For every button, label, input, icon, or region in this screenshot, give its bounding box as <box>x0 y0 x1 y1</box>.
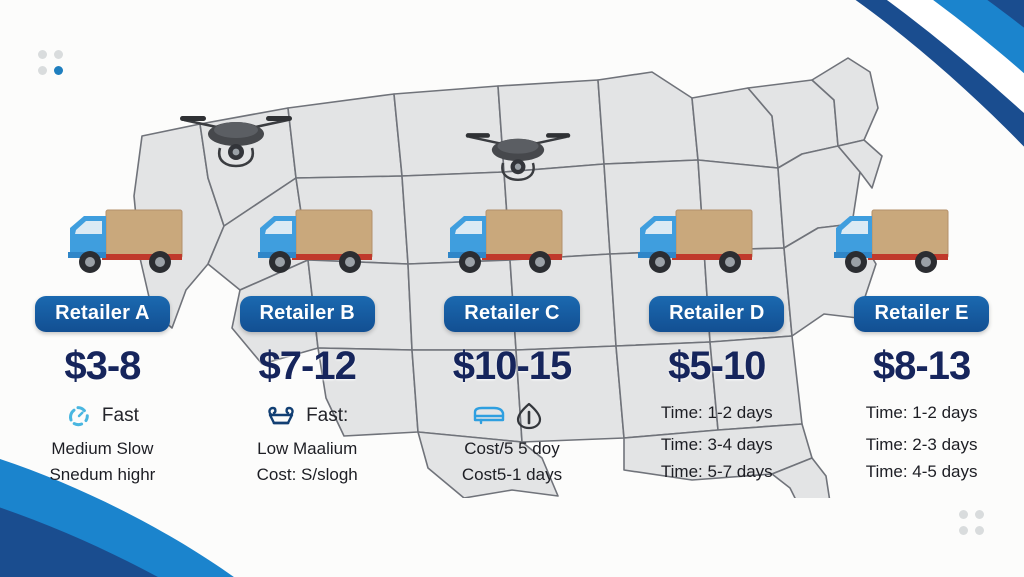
delivery-truck-4 <box>632 200 760 282</box>
retailer-column-c: Retailer C $10-15 Cost/5 5 doy <box>410 296 615 526</box>
price-a: $3-8 <box>64 346 140 386</box>
detail-lines-c: Cost/5 5 doy Cost5-1 days <box>462 436 562 489</box>
dot <box>54 50 63 59</box>
dot-accent <box>54 66 63 75</box>
dot <box>38 66 47 75</box>
delivery-drone-1 <box>176 96 296 170</box>
icon-row-d: Time: 1-2 days <box>661 400 773 426</box>
icon-row-e: Time: 1-2 days <box>866 400 978 426</box>
detail-line: Time: 2-3 days <box>866 432 978 458</box>
speedometer-icon <box>516 402 542 430</box>
retailer-column-a: Retailer A $3-8 Fast Medium Slow Snedum … <box>0 296 205 526</box>
delivery-van-icon <box>472 404 506 428</box>
price-c: $10-15 <box>453 346 572 386</box>
icon-row-a: Fast <box>66 402 139 430</box>
delivery-truck-2 <box>252 200 380 282</box>
detail-line: Low Maalium <box>257 436 358 462</box>
detail-lines-b: Low Maalium Cost: S/slogh <box>257 436 358 489</box>
retailer-badge-e[interactable]: Retailer E <box>854 296 988 332</box>
speed-gauge-icon <box>66 403 92 429</box>
detail-lines-a: Medium Slow Snedum highr <box>49 436 155 489</box>
detail-line: Time: 4-5 days <box>866 459 978 485</box>
detail-line: Time: 1-2 days <box>661 400 773 426</box>
delivery-truck-3 <box>442 200 570 282</box>
retailer-badge-b[interactable]: Retailer B <box>240 296 375 332</box>
delivery-drone-2 <box>462 114 574 184</box>
detail-line: Snedum highr <box>49 462 155 488</box>
retailer-column-d: Retailer D $5-10 Time: 1-2 days Time: 3-… <box>614 296 819 526</box>
dot <box>38 50 47 59</box>
detail-lines-d: Time: 3-4 days Time: 5-7 days <box>661 432 773 485</box>
detail-line: Cost/5 5 doy <box>462 436 562 462</box>
icon-row-b: Fast: <box>266 402 348 430</box>
detail-line: Time: 1-2 days <box>866 400 978 426</box>
price-e: $8-13 <box>873 346 970 386</box>
price-b: $7-12 <box>259 346 356 386</box>
retailer-badge-d[interactable]: Retailer D <box>649 296 784 332</box>
delivery-truck-1 <box>62 200 190 282</box>
retailer-column-e: Retailer E $8-13 Time: 1-2 days Time: 2-… <box>819 296 1024 526</box>
icon-label-a: Fast <box>102 405 139 427</box>
delivery-truck-5 <box>828 200 956 282</box>
retailer-badge-a[interactable]: Retailer A <box>35 296 170 332</box>
detail-line: Medium Slow <box>49 436 155 462</box>
detail-lines-e: Time: 2-3 days Time: 4-5 days <box>866 432 978 485</box>
detail-line: Time: 5-7 days <box>661 459 773 485</box>
cargo-ship-icon <box>266 404 296 428</box>
icon-row-c <box>472 402 552 430</box>
detail-line: Cost: S/slogh <box>257 462 358 488</box>
decorative-dot-grid-top-left <box>38 50 63 75</box>
detail-line: Time: 3-4 days <box>661 432 773 458</box>
infographic-canvas: Retailer A $3-8 Fast Medium Slow Snedum … <box>0 0 1024 577</box>
dot <box>975 526 984 535</box>
detail-line: Cost5-1 days <box>462 462 562 488</box>
retailer-column-b: Retailer B $7-12 Fast: Low Maalium Cost:… <box>205 296 410 526</box>
icon-label-b: Fast: <box>306 405 348 427</box>
retailer-badge-c[interactable]: Retailer C <box>444 296 579 332</box>
dot <box>959 526 968 535</box>
retailer-columns: Retailer A $3-8 Fast Medium Slow Snedum … <box>0 296 1024 526</box>
price-d: $5-10 <box>668 346 765 386</box>
